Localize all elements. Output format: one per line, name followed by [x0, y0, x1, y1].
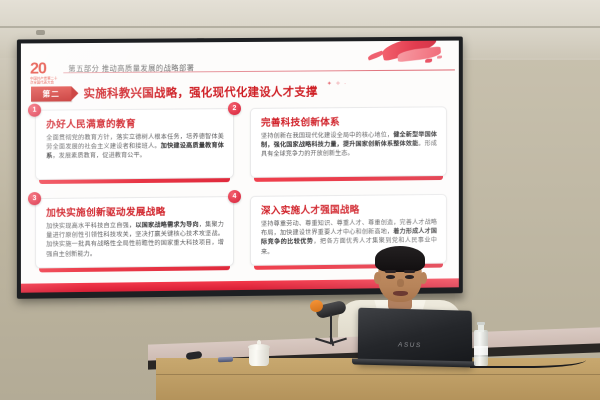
slide-title-row: 第二 实施科教兴国战略，强化现代化建设人才支撑 ✦ ✧ ·: [31, 82, 451, 105]
eyebrow-right: [404, 270, 415, 273]
content-card[interactable]: 加快实施创新驱动发展战略 加快实现高水平科技自立自强，以国家战略需求为导向，集聚…: [35, 196, 234, 268]
card-underline: [39, 178, 230, 184]
nose: [397, 279, 404, 287]
wall-right-panel: [455, 60, 600, 360]
card-heading: 办好人民满意的教育: [46, 115, 224, 131]
step-badge-1: 1: [28, 104, 41, 117]
bottle-neck: [478, 324, 484, 332]
desk-cable: [470, 352, 586, 368]
laptop-brand-label: ASUS: [398, 342, 422, 350]
step-badge-2: 2: [228, 102, 241, 115]
ear-right: [420, 272, 427, 284]
teacup-knob: [257, 340, 261, 345]
ear-left: [374, 272, 381, 284]
desk-front-seam: [156, 374, 600, 375]
content-cell-1: 办好人民满意的教育 全面贯彻党的教育方针，落实立德树人根本任务，培养德智体美劳全…: [35, 108, 234, 186]
card-heading: 深入实施人才强国战略: [261, 201, 437, 217]
logo-subtitle: 中国共产党第二十次全国代表大会: [30, 76, 58, 84]
smartphone[interactable]: [218, 357, 233, 363]
title-sparkle-icon: ✦ ✧ ·: [327, 80, 347, 87]
slide-kicker: 第五部分 推动高质量发展的战略部署: [68, 63, 194, 74]
content-cell-3: 加快实施创新驱动发展战略 加快实现高水平科技自立自强，以国家战略需求为导向，集聚…: [35, 196, 234, 274]
mouth: [393, 291, 408, 296]
bottle-cap: [477, 322, 485, 325]
card-heading: 加快实施创新驱动发展战略: [46, 203, 224, 219]
presenter-hair: [375, 246, 425, 272]
conference-room-scene: 20 中国共产党第二十次全国代表大会 第五部分 推动高质量发展的战略部署 第二 …: [0, 0, 600, 400]
eye-right: [405, 275, 414, 279]
content-cell-2: 完善科技创新体系 坚持创新在我国现代化建设全局中的核心地位，健全新型举国体制，强…: [250, 106, 447, 184]
step-badge-3: 3: [28, 192, 41, 205]
ceiling-seam: [0, 26, 600, 28]
logo-number: 20: [30, 60, 46, 77]
red-ribbon-decoration-icon: [352, 41, 447, 72]
card-underline: [39, 266, 230, 272]
section-tag: 第二: [31, 86, 71, 101]
ceiling-vent-icon: [36, 30, 45, 35]
slide-header: 20 中国共产党第二十次全国代表大会 第五部分 推动高质量发展的战略部署: [21, 41, 459, 74]
card-body: 坚持创新在我国现代化建设全局中的核心地位，健全新型举国体制，强化国家战略科技力量…: [261, 130, 437, 159]
eyebrow-left: [385, 270, 396, 273]
content-card[interactable]: 办好人民满意的教育 全面贯彻党的教育方针，落实立德树人根本任务，培养德智体美劳全…: [35, 108, 234, 180]
slide-title: 实施科教兴国战略，强化现代化建设人才支撑: [83, 83, 317, 101]
card-heading: 完善科技创新体系: [261, 113, 437, 128]
content-card[interactable]: 完善科技创新体系 坚持创新在我国现代化建设全局中的核心地位，健全新型举国体制，强…: [250, 106, 447, 178]
card-body: 加快实现高水平科技自立自强，以国家战略需求为导向，集聚力量进行原创性引领性科技攻…: [46, 220, 224, 259]
eye-left: [386, 275, 395, 279]
card-underline: [254, 176, 443, 182]
card-body: 全面贯彻党的教育方针，落实立德树人根本任务，培养德智体美劳全面发展的社会主义建设…: [46, 132, 224, 161]
laptop-lid[interactable]: ASUS: [358, 308, 473, 367]
step-badge-4: 4: [228, 190, 241, 203]
congress-20-logo: 20 中国共产党第二十次全国代表大会: [30, 61, 58, 85]
teacup: [248, 340, 270, 366]
